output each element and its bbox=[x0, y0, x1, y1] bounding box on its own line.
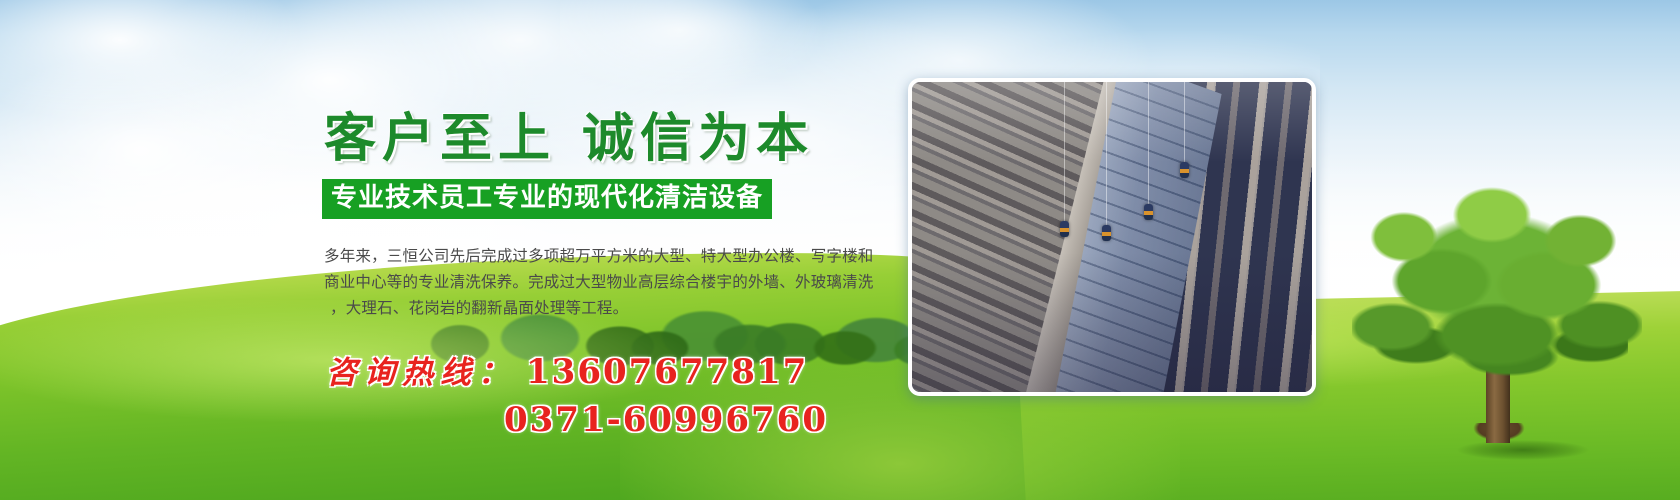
building-photo bbox=[908, 78, 1316, 396]
hotline-landline-number[interactable]: 0371-60996760 bbox=[504, 400, 898, 440]
headline-part-2: 诚信为本 bbox=[582, 108, 814, 169]
photo-shading-overlay bbox=[912, 82, 1312, 392]
headline-part-1: 客户至上 bbox=[324, 108, 556, 169]
subtitle-bar: 专业技术员工专业的现代化清洁设备 bbox=[322, 179, 772, 219]
description-line-1: 多年来，三恒公司先后完成过多项超万平方米的大型、特大型办公楼、写字楼和 bbox=[324, 243, 890, 269]
hotline-label: 咨询热线： bbox=[326, 355, 516, 391]
headline: 客户至上诚信为本 bbox=[324, 95, 898, 165]
promo-banner: 客户至上诚信为本 专业技术员工专业的现代化清洁设备 多年来，三恒公司先后完成过多… bbox=[0, 0, 1680, 500]
hotline-row-primary: 咨询热线：13607677817 bbox=[326, 347, 898, 392]
description-paragraph: 多年来，三恒公司先后完成过多项超万平方米的大型、特大型办公楼、写字楼和 商业中心… bbox=[324, 243, 890, 321]
hotline-mobile-number[interactable]: 13607677817 bbox=[526, 352, 808, 392]
building-photo-inner bbox=[912, 82, 1312, 392]
decorative-tree bbox=[1352, 185, 1642, 475]
banner-text-block: 客户至上诚信为本 专业技术员工专业的现代化清洁设备 多年来，三恒公司先后完成过多… bbox=[318, 95, 898, 440]
description-line-2: 商业中心等的专业清洗保养。完成过大型物业高层综合楼宇的外墙、外玻璃清洗 bbox=[324, 269, 890, 295]
description-line-3: ，大理石、花岗岩的翻新晶面处理等工程。 bbox=[324, 295, 890, 321]
tree-canopy bbox=[1352, 185, 1642, 400]
